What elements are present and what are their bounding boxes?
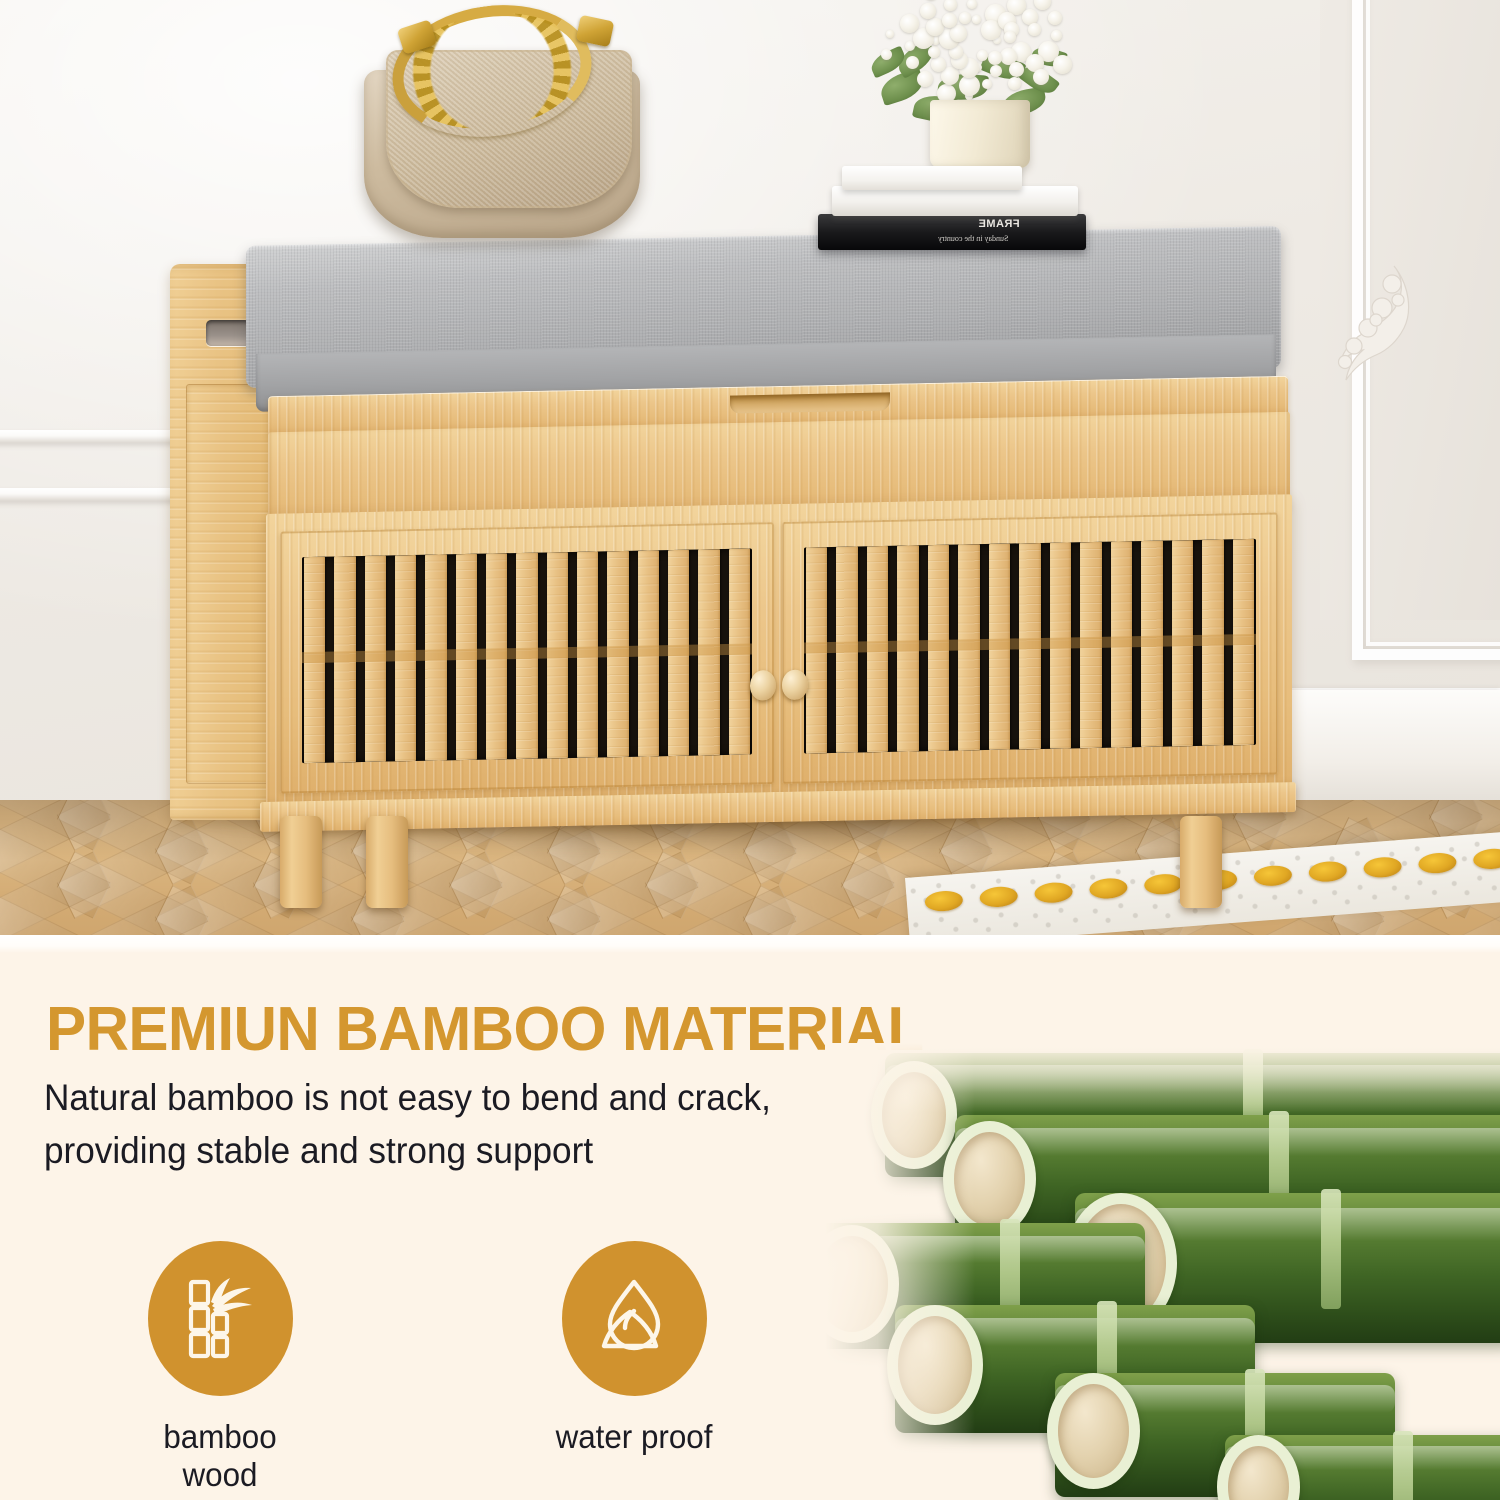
bouquet-bloom <box>917 71 933 87</box>
book-spine-subtitle: Sunday in the country <box>938 234 1008 243</box>
bouquet-bloom <box>967 0 977 9</box>
bouquet-bloom <box>931 57 946 72</box>
cabinet-door-left[interactable] <box>280 522 774 793</box>
cabinet-knob-right[interactable] <box>782 669 808 699</box>
book-stack: FRAME Sunday in the country <box>818 156 1098 252</box>
bouquet-bloom <box>944 0 957 11</box>
bouquet-bloom <box>972 15 981 24</box>
feature-badge-circle <box>562 1241 707 1396</box>
bouquet-bloom <box>886 30 894 38</box>
panel-subcopy: Natural bamboo is not easy to bend and c… <box>44 1072 909 1177</box>
rococo-corner-ornament-icon <box>1336 262 1446 392</box>
feature-badge-list: bamboo wood water proof <box>120 1241 734 1494</box>
product-infographic: FRAME Sunday in the country PREMIUN BAMB… <box>0 0 1500 1500</box>
bench-side-inset <box>186 384 274 784</box>
feature-label: bamboo wood <box>125 1418 315 1494</box>
bouquet-bloom <box>977 50 988 61</box>
bench-leg <box>1180 816 1222 908</box>
bouquet-bloom <box>920 3 936 19</box>
bouquet-bloom <box>1008 77 1021 90</box>
bamboo-culms-photo <box>825 1043 1500 1500</box>
bouquet-bloom <box>1048 11 1062 25</box>
bouquet-bloom <box>988 51 1002 65</box>
feature-panel: PREMIUN BAMBOO MATERIAL Natural bamboo i… <box>0 935 1500 1500</box>
bamboo-hollow-interior <box>1228 1446 1289 1500</box>
bouquet-bloom <box>1034 0 1051 10</box>
feature-badge-circle <box>148 1241 293 1396</box>
photo-top-fade <box>825 1043 1500 1113</box>
panel-top-divider <box>0 935 1500 953</box>
bouquet-bloom <box>928 46 940 58</box>
culm-node-ring <box>1393 1431 1413 1500</box>
feature-label: water proof <box>539 1418 729 1456</box>
bench-leg <box>280 816 322 908</box>
bouquet-bloom <box>959 12 971 24</box>
bouquet-bloom <box>1028 23 1041 36</box>
book-spine-title: FRAME <box>978 218 1020 230</box>
book-white-middle <box>832 186 1078 216</box>
bamboo-stalk-icon <box>179 1276 261 1362</box>
lifestyle-photo: FRAME Sunday in the country <box>0 0 1500 935</box>
bouquet-bloom <box>982 79 992 89</box>
feature-bamboo-wood: bamboo wood <box>120 1241 320 1494</box>
book-black <box>818 214 1086 250</box>
cabinet-door-right[interactable] <box>782 512 1278 784</box>
bouquet-bloom <box>950 25 967 42</box>
bench-leg <box>366 816 408 908</box>
culm-node-ring <box>1321 1189 1341 1309</box>
bamboo-storage-bench <box>170 236 1305 836</box>
handbag <box>342 0 658 246</box>
bouquet-bloom <box>1053 55 1072 74</box>
bouquet-bloom <box>1051 30 1062 41</box>
door-left-slats <box>302 549 752 764</box>
feature-water-proof: water proof <box>534 1241 734 1494</box>
bench-side-handle <box>206 320 250 346</box>
panel-headline: PREMIUN BAMBOO MATERIAL <box>46 994 924 1065</box>
bouquet-bloom <box>1004 31 1016 43</box>
bamboo-hollow-interior <box>1058 1384 1129 1478</box>
lid-finger-pull <box>730 392 890 413</box>
bouquet-bloom <box>990 65 1002 77</box>
cabinet-knob-left[interactable] <box>750 670 776 700</box>
bamboo-culm-cut-end <box>1047 1373 1140 1489</box>
bench-cabinet <box>266 494 1292 814</box>
bouquet-bloom <box>1009 62 1024 77</box>
book-white-top <box>842 166 1022 190</box>
door-right-slats <box>804 539 1256 754</box>
bouquet-bloom <box>900 14 919 33</box>
culm-highlight <box>955 1128 1500 1156</box>
bouquet-bloom <box>959 75 980 96</box>
water-drop-icon <box>592 1276 676 1362</box>
